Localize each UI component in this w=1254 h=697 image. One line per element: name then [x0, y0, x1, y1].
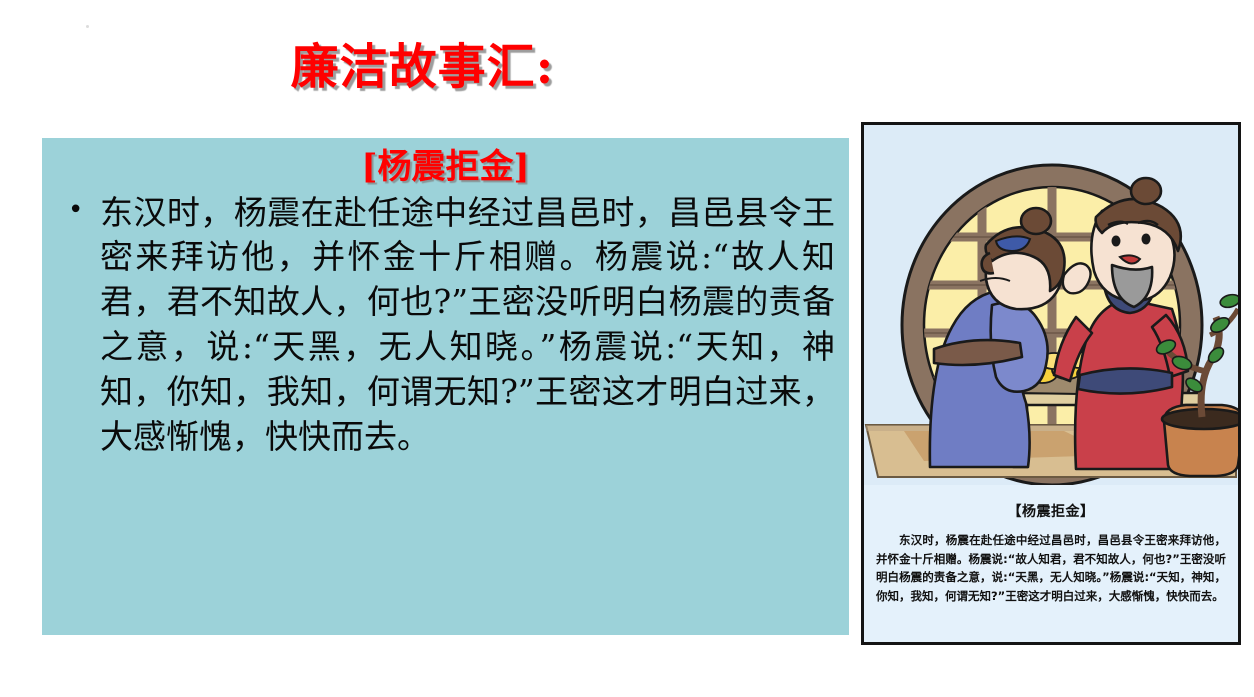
- bullet-glyph: •: [68, 191, 83, 230]
- illustration-artwork: [864, 125, 1238, 485]
- content-box: [杨震拒金] • 东汉时，杨震在赴任途中经过昌邑时，昌邑县令王密来拜访他，并怀金…: [42, 138, 849, 635]
- page-title: 廉洁故事汇:: [0, 42, 845, 94]
- caption-title: 【杨震拒金】: [876, 501, 1226, 521]
- story-bullet-item: • 东汉时，杨震在赴任途中经过昌邑时，昌邑县令王密来拜访他，并怀金十斤相赠。杨震…: [56, 191, 835, 460]
- illustration-panel: 【杨震拒金】 东汉时，杨震在赴任途中经过昌邑时，昌邑县令王密来拜访他，并怀金十斤…: [861, 122, 1241, 645]
- artifact-dot: [86, 25, 89, 28]
- story-bullet-list: • 东汉时，杨震在赴任途中经过昌邑时，昌邑县令王密来拜访他，并怀金十斤相赠。杨震…: [56, 191, 835, 460]
- story-paragraph: 东汉时，杨震在赴任途中经过昌邑时，昌邑县令王密来拜访他，并怀金十斤相赠。杨震说:…: [100, 193, 835, 456]
- slide-root: 廉洁故事汇: [杨震拒金] • 东汉时，杨震在赴任途中经过昌邑时，昌邑县令王密来…: [0, 0, 1254, 697]
- caption-body: 东汉时，杨震在赴任途中经过昌邑时，昌邑县令王密来拜访他，并怀金十斤相赠。杨震说:…: [876, 531, 1226, 606]
- illustration-caption: 【杨震拒金】 东汉时，杨震在赴任途中经过昌邑时，昌邑县令王密来拜访他，并怀金十斤…: [864, 485, 1238, 606]
- story-subtitle: [杨震拒金]: [56, 146, 835, 189]
